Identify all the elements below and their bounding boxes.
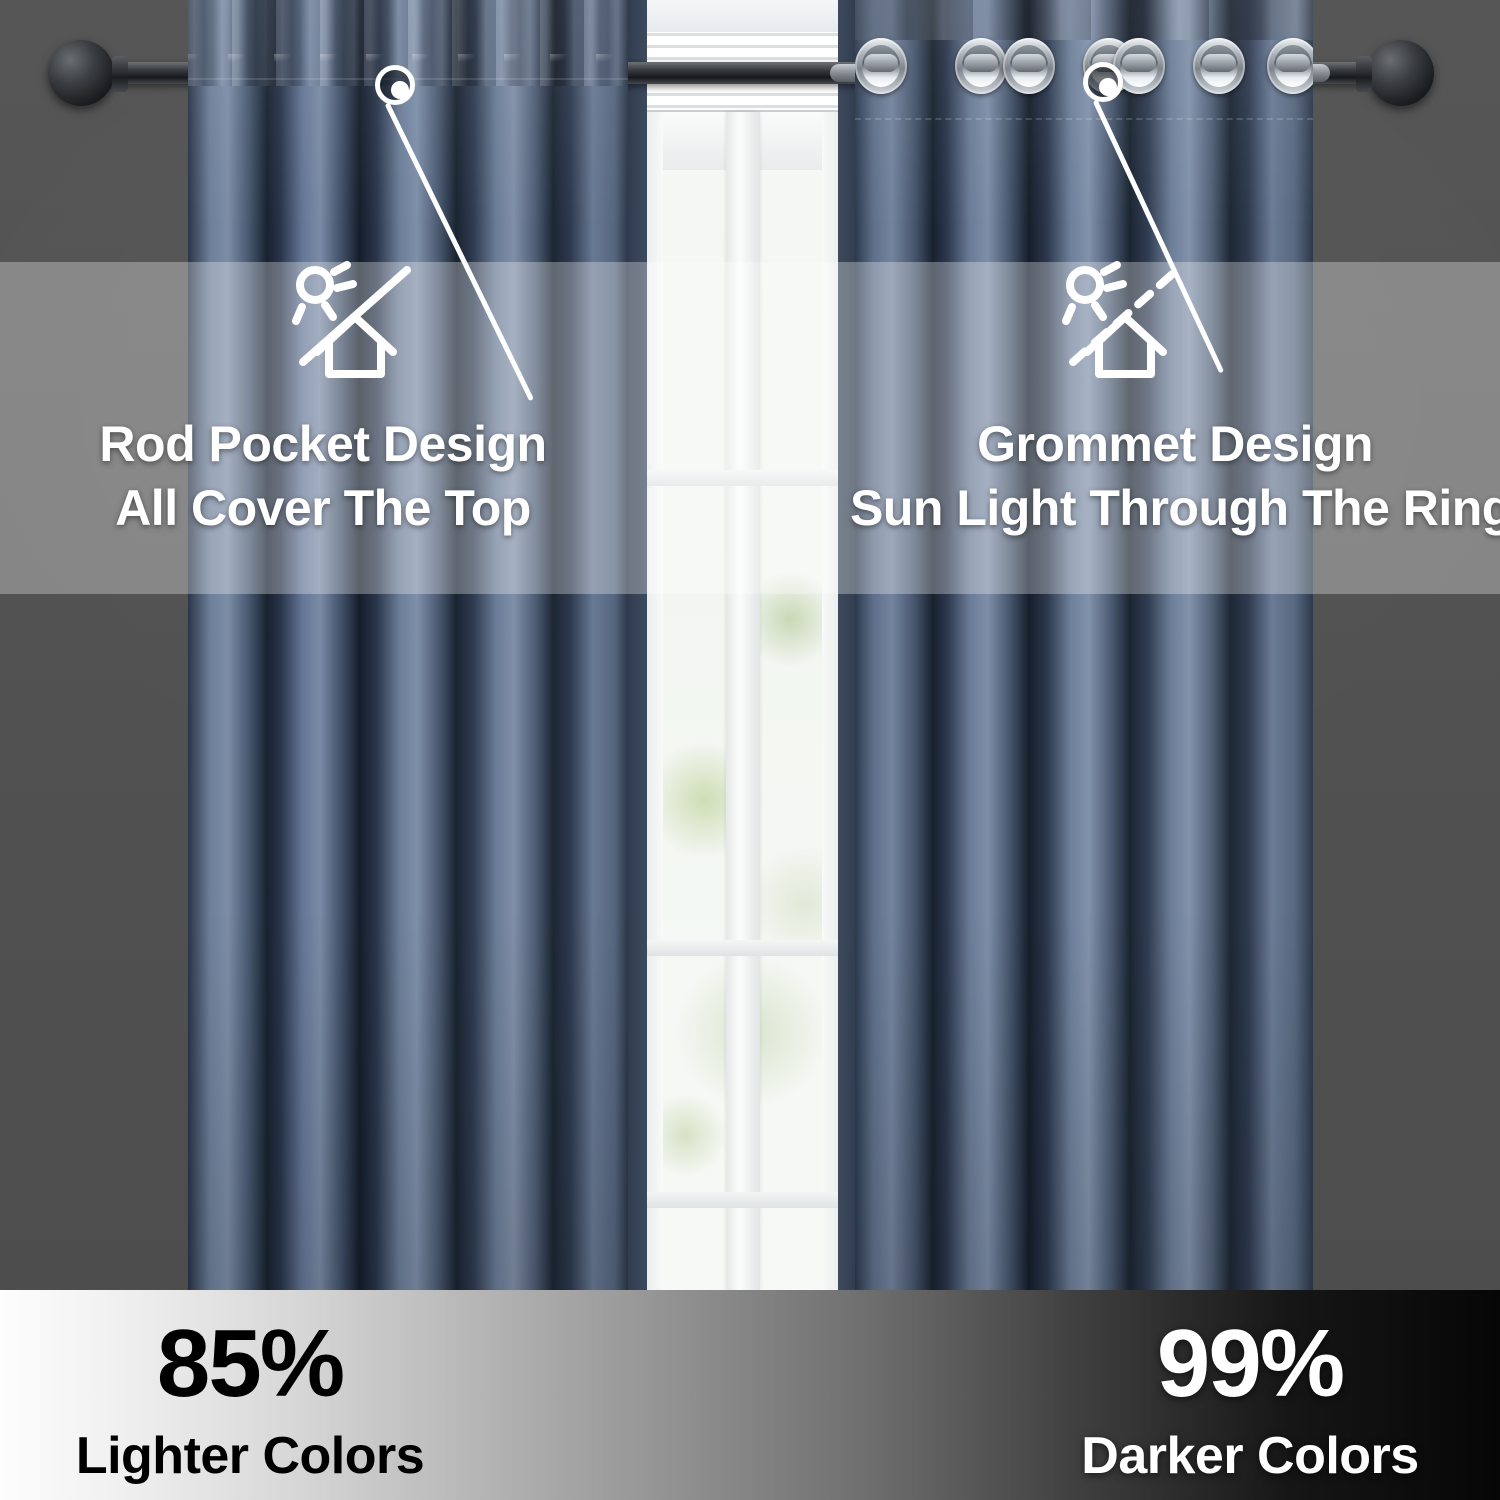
stat-percent: 85%	[0, 1316, 750, 1412]
feature-line-1: Grommet Design	[850, 412, 1500, 476]
sun-blocked-house-icon	[285, 254, 425, 384]
window-sill	[647, 1192, 838, 1208]
window-mullion-horizontal	[647, 940, 838, 956]
window	[625, 0, 860, 1290]
grommet-rod-segment	[1276, 54, 1310, 72]
window-blinds	[647, 0, 838, 112]
stat-percent: 99%	[1000, 1316, 1500, 1412]
blinds-headrail	[647, 0, 838, 32]
stat-lighter-colors: 85% Lighter Colors	[0, 1290, 750, 1482]
feature-rod-pocket: Rod Pocket Design All Cover The Top	[0, 262, 640, 594]
grommet-rod-segment	[1012, 54, 1046, 72]
stat-darker-colors: 99% Darker Colors	[750, 1290, 1500, 1482]
curtain-panel-grommet	[855, 0, 1313, 1290]
feature-text-rod-pocket: Rod Pocket Design All Cover The Top	[0, 412, 640, 540]
rod-collar-left	[112, 56, 128, 92]
window-reveal-left	[625, 0, 647, 1290]
callout-dot	[1099, 78, 1117, 96]
callout-dot	[391, 81, 409, 99]
feature-line-1: Rod Pocket Design	[6, 412, 640, 476]
grommet-rod-segment	[1122, 54, 1156, 72]
bottom-stats-banner: 85% Lighter Colors 99% Darker Colors	[0, 1290, 1500, 1500]
grommet-ring	[1193, 38, 1245, 94]
rod-finial-right	[1368, 40, 1434, 106]
feature-grommet: Grommet Design Sun Light Through The Rin…	[850, 262, 1500, 594]
grommet-header-gather	[855, 0, 1313, 40]
stat-label: Lighter Colors	[0, 1430, 750, 1482]
feature-line-2: All Cover The Top	[6, 476, 640, 540]
feature-line-2: Sun Light Through The Ring	[850, 476, 1500, 540]
grommet-header-stitch	[855, 118, 1313, 120]
grommet-rod-segment	[1202, 54, 1236, 72]
grommet-ring	[855, 38, 907, 94]
callout-ring	[1083, 62, 1123, 102]
rod-pocket-scallop	[188, 54, 628, 70]
stat-label: Darker Colors	[1000, 1430, 1500, 1482]
callout-ring	[375, 65, 415, 105]
curtain-shading	[188, 0, 628, 1290]
curtain-panel-rod-pocket	[188, 0, 628, 1290]
window-glass-outdoor-view	[647, 0, 838, 1290]
rod-collar-right	[1356, 56, 1372, 92]
grommet-ring	[1267, 38, 1313, 94]
grommet-rod-segment	[964, 54, 998, 72]
grommet-rod-segment	[864, 54, 898, 72]
curtain-shading	[855, 0, 1313, 1290]
grommet-ring	[955, 38, 1007, 94]
feature-text-grommet: Grommet Design Sun Light Through The Rin…	[850, 412, 1500, 540]
sun-through-house-icon	[1055, 254, 1195, 384]
grommet-ring	[1003, 38, 1055, 94]
rod-finial-left	[48, 40, 114, 106]
product-feature-image: Rod Pocket Design All Cover The Top Grom…	[0, 0, 1500, 1500]
